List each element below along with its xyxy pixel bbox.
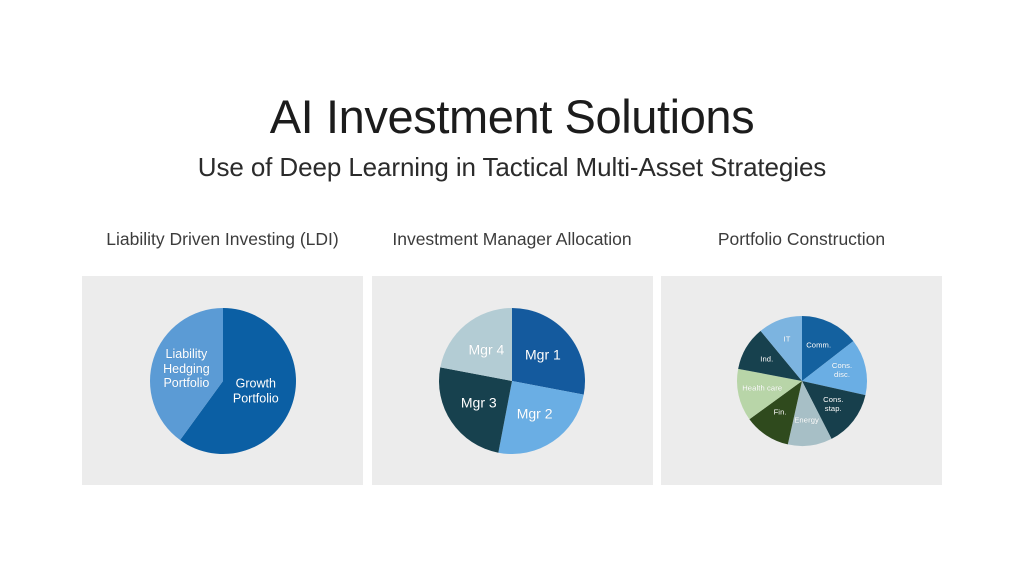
page-title: AI Investment Solutions <box>0 92 1024 143</box>
chart-panels-row: Liability Driven Investing (LDI) Growth … <box>82 228 942 490</box>
panel-portfolio-construction: Portfolio Construction Comm.Cons. disc.C… <box>661 228 942 485</box>
title-block: AI Investment Solutions Use of Deep Lear… <box>0 92 1024 183</box>
panel-body-manager-allocation: Mgr 1Mgr 2Mgr 3Mgr 4 <box>372 276 653 485</box>
panel-ldi: Liability Driven Investing (LDI) Growth … <box>82 228 363 485</box>
slide-canvas: AI Investment Solutions Use of Deep Lear… <box>0 0 1024 576</box>
pie-svg <box>735 314 869 448</box>
pie-svg <box>437 306 587 456</box>
pie-slice[interactable] <box>512 308 585 395</box>
pie-svg <box>148 306 298 456</box>
panel-body-ldi: Growth PortfolioLiability Hedging Portfo… <box>82 276 363 485</box>
pie-chart-manager-allocation: Mgr 1Mgr 2Mgr 3Mgr 4 <box>437 306 587 456</box>
panel-heading-manager-allocation: Investment Manager Allocation <box>382 228 642 276</box>
pie-chart-portfolio-construction: Comm.Cons. disc.Cons. stap.EnergyFin.Hea… <box>735 314 869 448</box>
page-subtitle: Use of Deep Learning in Tactical Multi-A… <box>0 153 1024 183</box>
panel-manager-allocation: Investment Manager Allocation Mgr 1Mgr 2… <box>372 228 653 485</box>
panel-body-portfolio-construction: Comm.Cons. disc.Cons. stap.EnergyFin.Hea… <box>661 276 942 485</box>
panel-heading-ldi: Liability Driven Investing (LDI) <box>93 228 353 276</box>
pie-chart-ldi: Growth PortfolioLiability Hedging Portfo… <box>148 306 298 456</box>
panel-heading-portfolio-construction: Portfolio Construction <box>672 228 932 276</box>
